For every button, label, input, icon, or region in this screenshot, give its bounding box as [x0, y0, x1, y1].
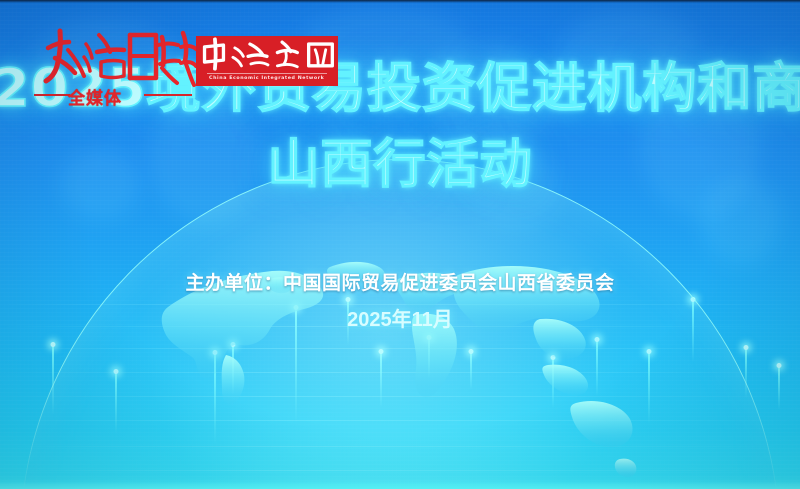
cein-logo-mark	[196, 36, 338, 72]
changzhi-daily-logo	[38, 22, 198, 90]
globe-continents	[20, 159, 780, 489]
watermark-rule-left	[34, 94, 70, 96]
cein-logo-box: China Economic Integrated Network	[196, 36, 338, 86]
bottom-glow-line	[0, 481, 800, 489]
cein-logo-divider	[207, 73, 327, 74]
event-date: 2025年11月	[0, 303, 800, 332]
scan-streaks	[0, 300, 800, 489]
watermark-rule-right	[144, 94, 192, 96]
top-edge-shade	[0, 0, 800, 3]
poster-canvas: 2025境外贸易投资促进机构和商协会 山西行活动 主办单位：中国国际贸易促进委员…	[0, 0, 800, 489]
organizer-text: 主办单位：中国国际贸易促进委员会山西省委员会	[0, 268, 800, 295]
page-title-line-2: 山西行活动	[0, 134, 800, 196]
changzhi-daily-sublabel: 全媒体	[68, 84, 122, 109]
cein-logo-subtitle: China Economic Integrated Network	[209, 75, 324, 81]
globe-graphic	[20, 159, 780, 489]
